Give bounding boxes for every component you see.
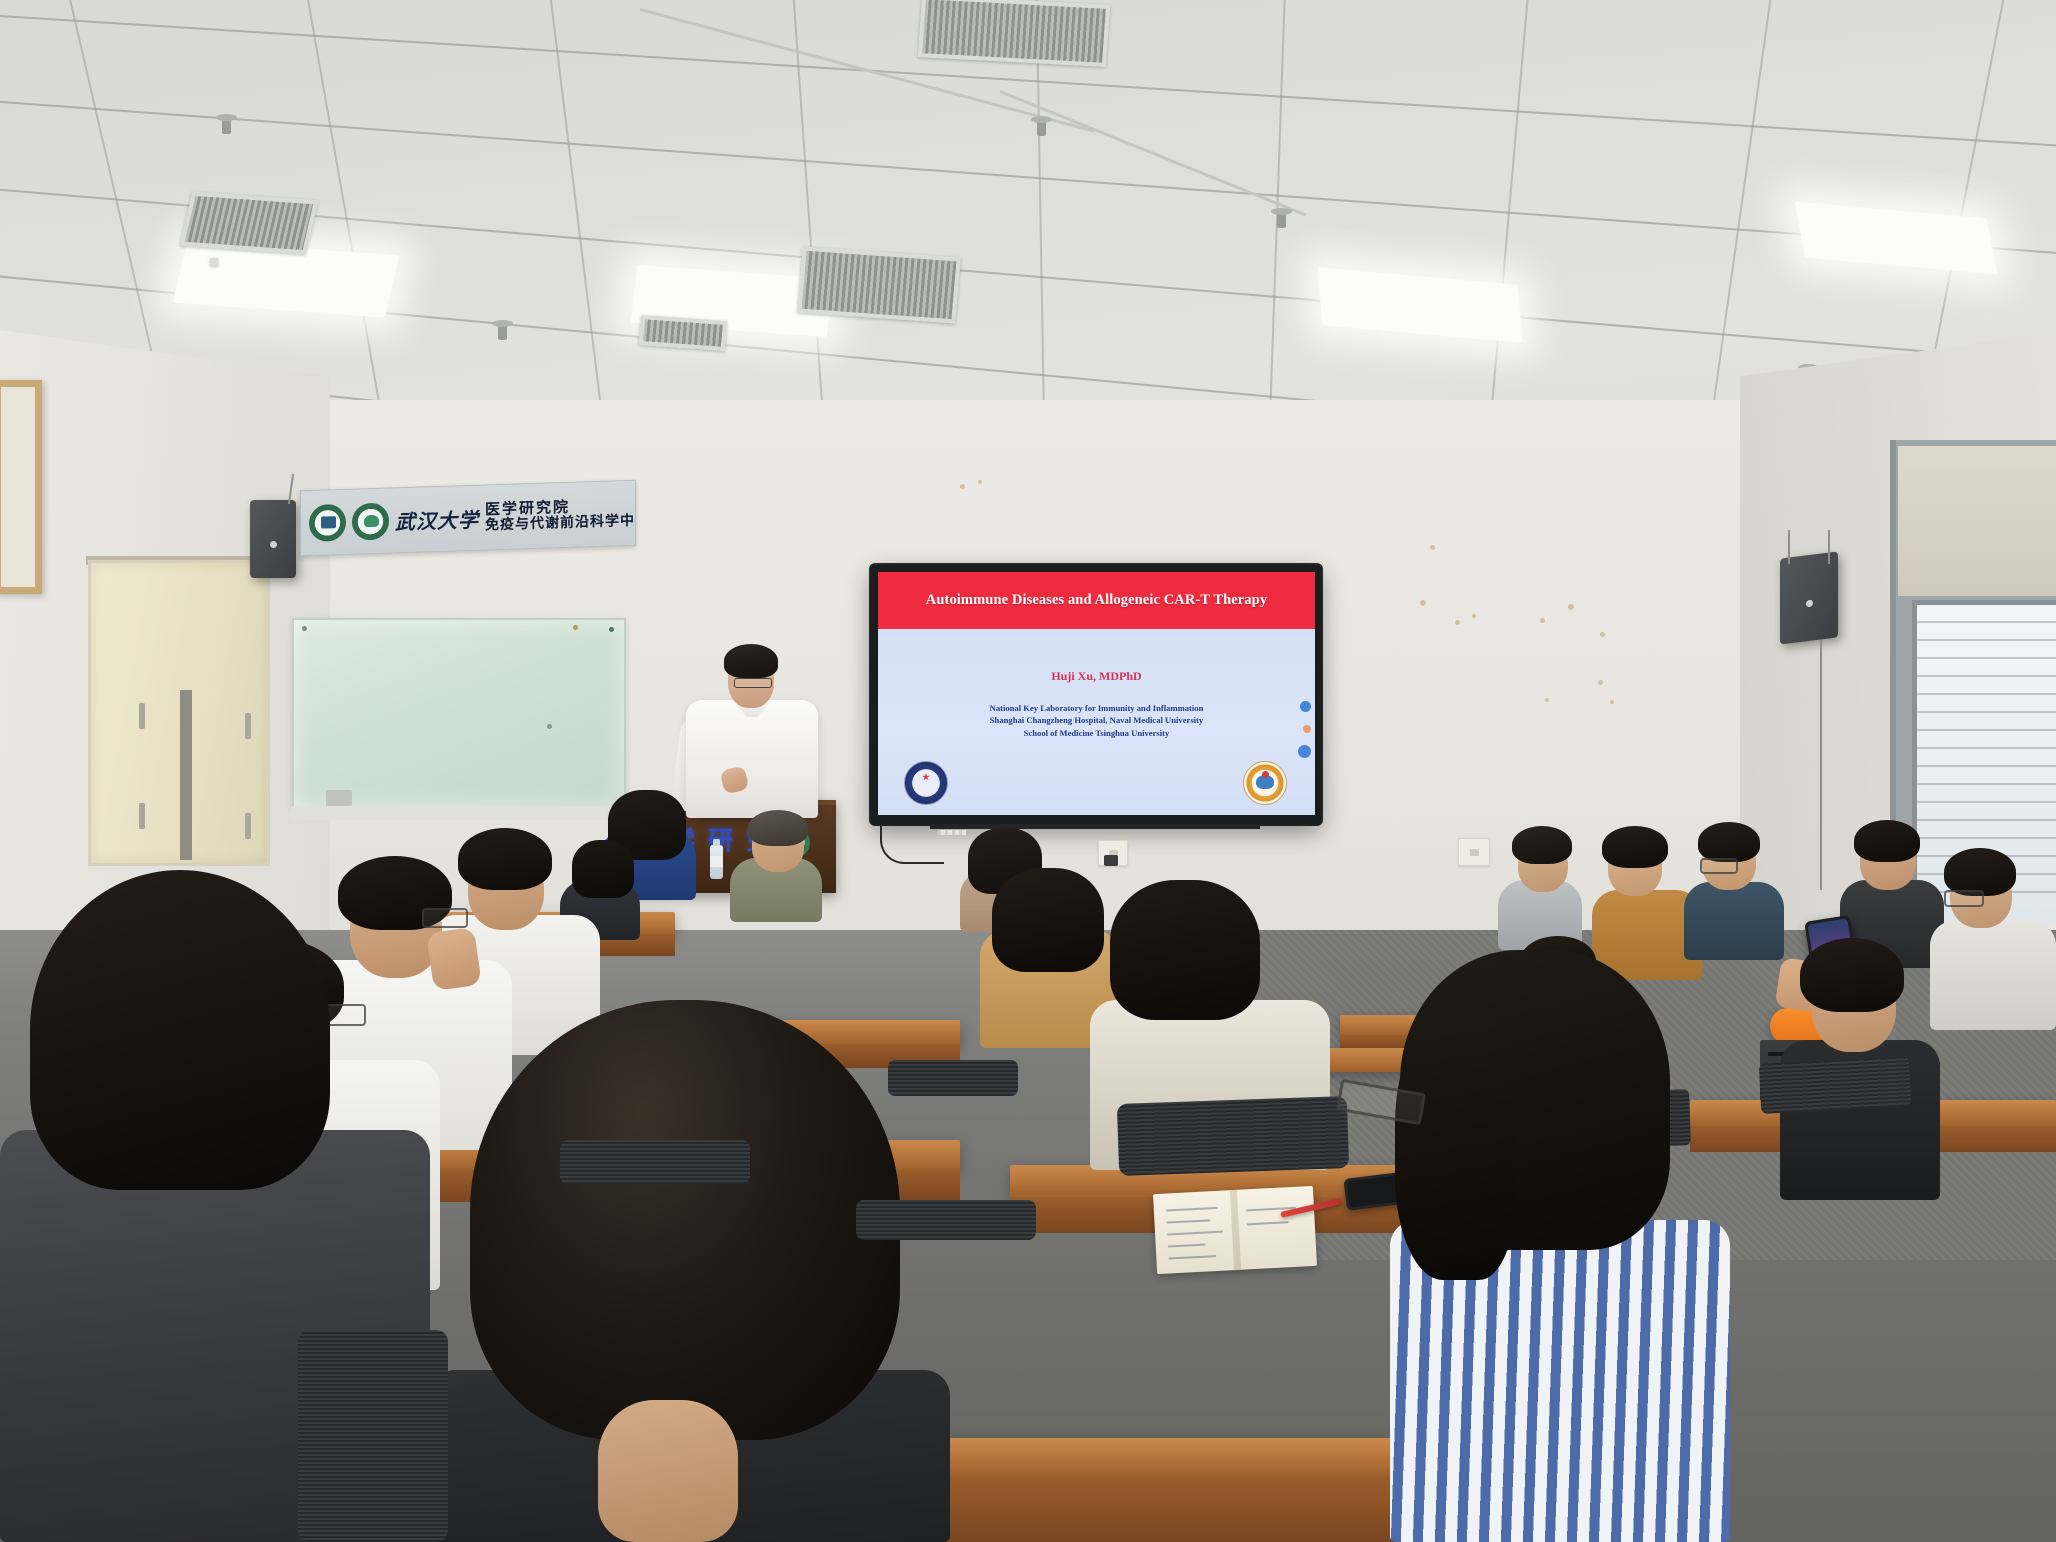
door-gap	[180, 690, 192, 860]
wuhan-university-seal-icon	[309, 503, 346, 541]
wall-speaker-left	[250, 500, 296, 578]
eyeglasses-icon	[1700, 858, 1738, 874]
eyeglasses-icon	[422, 908, 468, 928]
air-vent-icon	[180, 192, 318, 255]
audience-hair	[1512, 826, 1572, 864]
green-glass-whiteboard	[292, 618, 626, 810]
power-plug	[1104, 855, 1118, 866]
wall-trim-detail	[938, 830, 966, 835]
chair-back	[298, 1330, 448, 1542]
banner-line-2: 免疫与代谢前沿科学中心	[485, 513, 636, 533]
affiliation-line-1: National Key Laboratory for Immunity and…	[878, 702, 1315, 714]
chair-back	[856, 1200, 1036, 1240]
audience-hair-foreground	[470, 1000, 900, 1440]
fire-sprinkler-icon	[1037, 120, 1046, 136]
board-base-trim	[290, 806, 630, 820]
slide-title: Autoimmune Diseases and Allogeneic CAR-T…	[926, 592, 1267, 609]
fire-sprinkler-icon	[498, 324, 507, 340]
notebook-spine	[1230, 1190, 1241, 1270]
audience-hair	[1800, 938, 1904, 1012]
fire-sprinkler-icon	[222, 118, 231, 134]
slide-affiliation: National Key Laboratory for Immunity and…	[878, 702, 1315, 739]
audience-hair	[748, 810, 808, 846]
audience-hair	[992, 868, 1104, 972]
chair-back	[888, 1060, 1018, 1096]
lecture-room-photo: 武汉大学 医学研究院 免疫与代谢前沿科学中心 Autoimmune Diseas…	[0, 0, 2056, 1542]
wall-banner-sign: 武汉大学 医学研究院 免疫与代谢前沿科学中心	[300, 480, 636, 557]
audience-hair	[1944, 848, 2016, 896]
screen-indicator-dot	[1298, 745, 1311, 758]
audience-torso	[1684, 882, 1784, 960]
marker-tray	[326, 790, 352, 806]
screen-indicator-dot	[1303, 725, 1311, 733]
air-vent-icon	[918, 0, 1110, 67]
framed-picture	[0, 380, 42, 594]
display-cable	[880, 826, 944, 864]
chair-back	[1117, 1096, 1349, 1176]
air-vent-icon	[639, 315, 728, 351]
presenter-hair	[724, 644, 778, 678]
presenter-torso	[686, 700, 818, 818]
chair-back	[1759, 1056, 1911, 1114]
light-switch[interactable]	[1458, 838, 1490, 866]
window-shade[interactable]	[1898, 446, 2056, 596]
audience-hair	[1854, 820, 1920, 862]
naval-medical-university-emblem-icon	[904, 761, 948, 805]
affiliation-line-3: School of Medicine Tsinghua University	[878, 727, 1315, 739]
open-notebook[interactable]	[1153, 1186, 1317, 1274]
audience-hair	[1395, 1020, 1515, 1280]
affiliation-line-2: Shanghai Changzheng Hospital, Naval Medi…	[878, 714, 1315, 726]
air-vent-icon	[797, 246, 961, 323]
screen-indicator-dot	[1300, 701, 1311, 712]
wall-speaker-right	[1780, 551, 1838, 644]
banner-text-block: 医学研究院 免疫与代谢前沿科学中心	[485, 497, 636, 533]
immunology-center-seal-icon	[352, 502, 389, 540]
presentation-display: Autoimmune Diseases and Allogeneic CAR-T…	[871, 565, 1321, 824]
eyeglasses-icon	[1944, 890, 1984, 907]
audience-hair	[1602, 826, 1668, 868]
audience-hair	[572, 840, 634, 898]
audience-hair	[458, 828, 552, 890]
slide-title-bar: Autoimmune Diseases and Allogeneic CAR-T…	[878, 572, 1315, 629]
chair-back	[560, 1140, 750, 1184]
bottle-label	[710, 856, 723, 867]
audience-hand	[426, 927, 482, 991]
audience-hair	[1110, 880, 1260, 1020]
audience-neck	[598, 1400, 738, 1542]
water-bottle	[710, 845, 723, 879]
presenter-eyeglasses	[734, 678, 772, 688]
display-mount-bar	[930, 824, 1260, 829]
slide-presenter-name: Huji Xu, MDPhD	[878, 669, 1315, 684]
fire-sprinkler-icon	[1277, 212, 1286, 228]
audience-hair-foreground	[30, 870, 330, 1190]
entrance-door[interactable]	[88, 560, 270, 866]
slide-content: Autoimmune Diseases and Allogeneic CAR-T…	[878, 572, 1315, 815]
tsinghua-medicine-emblem-icon	[1243, 761, 1287, 805]
slide-body: Huji Xu, MDPhD National Key Laboratory f…	[878, 629, 1315, 815]
audience-hair	[1698, 822, 1760, 862]
banner-script-text: 武汉大学	[395, 503, 479, 535]
audience-torso	[1930, 920, 2056, 1030]
